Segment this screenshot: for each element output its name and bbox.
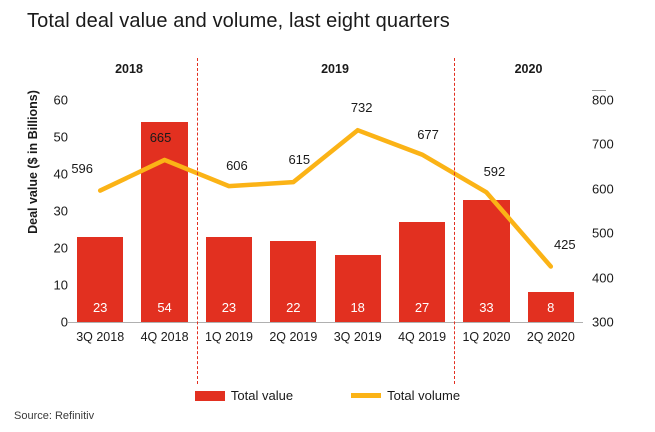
- y-axis-tick-right: 600: [592, 181, 632, 196]
- left-axis-tick-group: 0102030405060: [22, 0, 68, 432]
- legend-item-total-volume[interactable]: Total volume: [351, 388, 460, 403]
- legend-line-swatch-icon: [351, 393, 381, 398]
- y-axis-tick-right: 700: [592, 137, 632, 152]
- y-axis-tick-right: 500: [592, 226, 632, 241]
- legend-bar-swatch-icon: [195, 391, 225, 401]
- x-axis-tick-label: 4Q 2018: [132, 330, 196, 344]
- line-value-label: 732: [342, 100, 382, 115]
- x-axis-tick-label: 1Q 2019: [197, 330, 261, 344]
- year-group-label-2018: 2018: [64, 62, 194, 76]
- year-divider-line: [454, 58, 455, 384]
- line-value-label: 596: [62, 161, 102, 176]
- y-axis-tick-right: 300: [592, 315, 632, 330]
- line-value-label: 665: [141, 130, 181, 145]
- chart-title: Total deal value and volume, last eight …: [27, 10, 450, 33]
- line-value-label: 677: [408, 127, 448, 142]
- plot-area: 235423221827338596665606615732677592425: [68, 100, 583, 322]
- year-divider-line: [197, 58, 198, 384]
- y-axis-tick-left: 50: [32, 130, 68, 145]
- y-axis-tick-right: 400: [592, 270, 632, 285]
- line-value-label: 592: [474, 164, 514, 179]
- x-axis-baseline: [68, 322, 583, 323]
- x-axis-tick-label: 2Q 2020: [519, 330, 583, 344]
- y-axis-tick-left: 10: [32, 278, 68, 293]
- legend-label-total-value: Total value: [231, 388, 293, 403]
- chart-legend: Total value Total volume: [0, 388, 655, 403]
- line-value-label: 615: [279, 152, 319, 167]
- line-value-label: 606: [217, 158, 257, 173]
- x-axis-tick-label: 3Q 2019: [326, 330, 390, 344]
- year-group-label-2019: 2019: [210, 62, 460, 76]
- y-axis-tick-left: 0: [32, 315, 68, 330]
- x-axis-tick-label: 2Q 2019: [261, 330, 325, 344]
- x-axis-tick-label: 3Q 2018: [68, 330, 132, 344]
- y-axis-tick-left: 20: [32, 241, 68, 256]
- y-axis-tick-left: 30: [32, 204, 68, 219]
- y-axis-tick-right: 800: [592, 93, 632, 108]
- source-note: Source: Refinitiv: [14, 410, 94, 422]
- line-value-label: 425: [545, 237, 585, 252]
- year-group-label-2020: 2020: [466, 62, 591, 76]
- right-axis-cap-line: [592, 90, 606, 91]
- right-axis-tick-group: 300400500600700800: [592, 0, 638, 432]
- legend-label-total-volume: Total volume: [387, 388, 460, 403]
- x-axis-tick-label: 4Q 2019: [390, 330, 454, 344]
- x-axis-tick-label: 1Q 2020: [454, 330, 518, 344]
- chart-container: Total deal value and volume, last eight …: [0, 0, 655, 432]
- legend-item-total-value[interactable]: Total value: [195, 388, 293, 403]
- y-axis-tick-left: 60: [32, 93, 68, 108]
